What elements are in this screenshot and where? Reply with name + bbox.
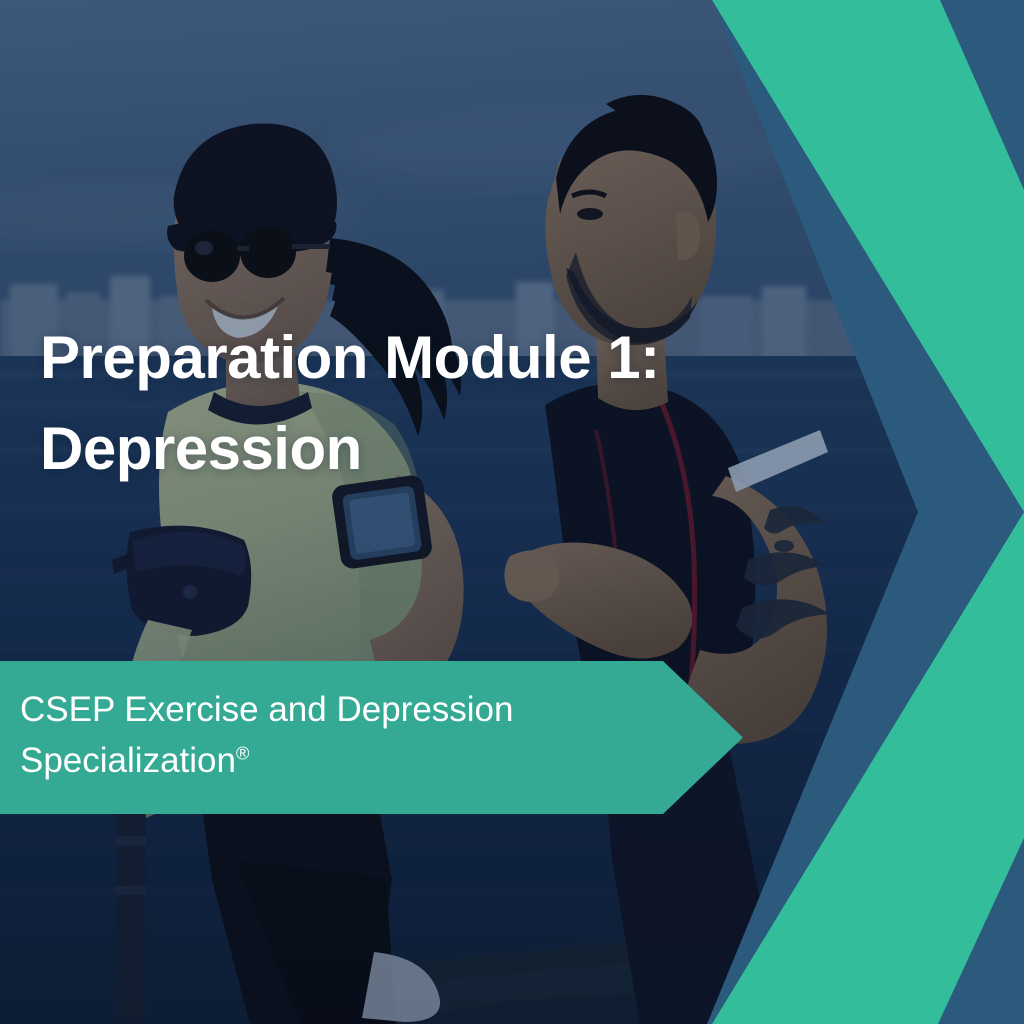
registered-trademark-icon: ® [236, 743, 249, 763]
page-title: Preparation Module 1: Depression [40, 312, 740, 494]
subtitle-banner: CSEP Exercise and DepressionSpecializati… [0, 661, 744, 814]
slide-canvas: Preparation Module 1: Depression CSEP Ex… [0, 0, 1024, 1024]
banner-subtitle-line1: CSEP Exercise and Depression [20, 690, 514, 729]
banner-subtitle-line2: Specialization [20, 741, 236, 780]
banner-subtitle: CSEP Exercise and DepressionSpecializati… [20, 685, 660, 787]
